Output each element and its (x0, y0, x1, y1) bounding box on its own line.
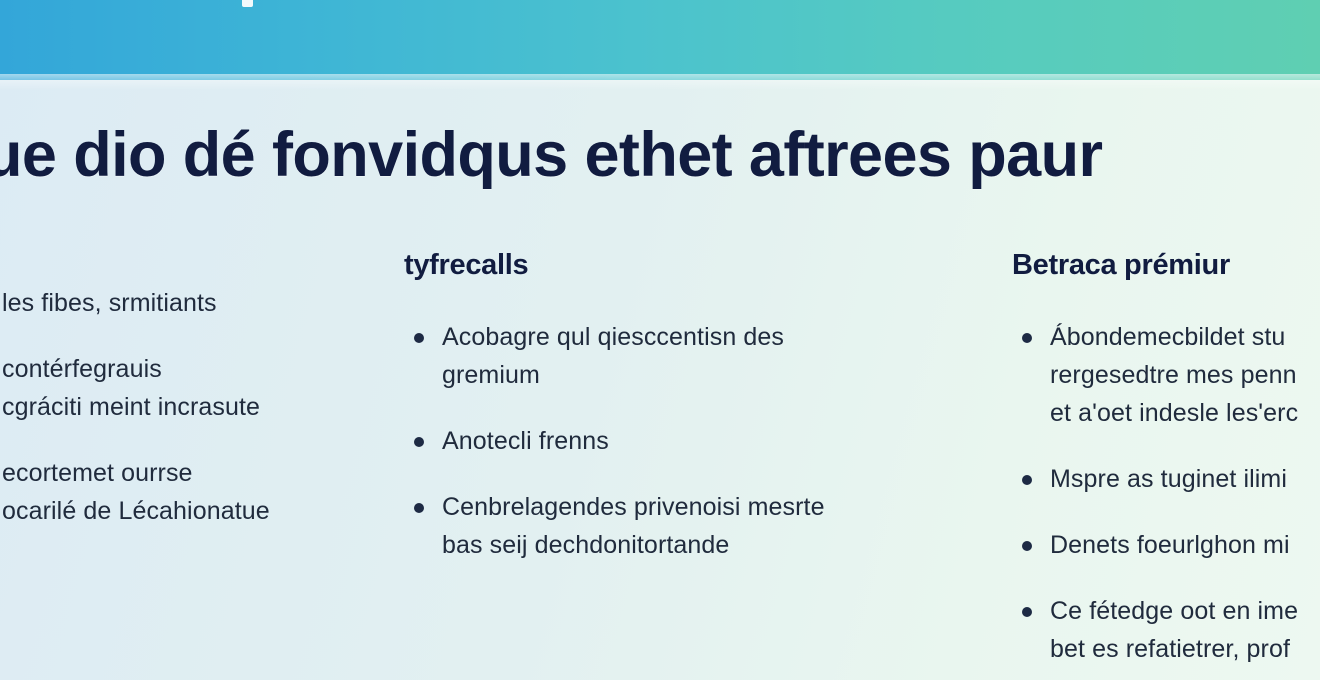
column-right: Betraca prémiur Ábondemecbildet stu rerg… (1012, 248, 1320, 680)
page-title: ue dio dé fonvidqus ethet aftrees paur (0, 117, 1320, 193)
list-item: les fibes, srmitiants (0, 284, 324, 322)
bullet-line: et a'oet indesle les'erc (1050, 394, 1320, 432)
column-middle-bullet-list: Acobagre qul qiesccentisn des gremium An… (404, 318, 874, 564)
list-item: Cenbrelagendes privenoisi mesrte bas sei… (404, 488, 874, 564)
column-left: les fibes, srmitiants contérfegrauis cgr… (0, 248, 324, 558)
bullet-dot-icon (1022, 475, 1032, 485)
bullet-line: Anotecli frenns (442, 422, 874, 460)
bullet-line: ocarilé de Lécahionatue (2, 492, 324, 530)
bullet-dot-icon (1022, 333, 1032, 343)
column-left-bullet-list: les fibes, srmitiants contérfegrauis cgr… (0, 284, 324, 530)
bullet-line: Denets foeurlghon mi (1050, 526, 1320, 564)
column-middle: tyfrecalls Acobagre qul qiesccentisn des… (404, 248, 874, 592)
banner-notch-marker (242, 0, 253, 7)
column-right-heading: Betraca prémiur (1012, 248, 1320, 282)
list-item: Denets foeurlghon mi (1012, 526, 1320, 564)
slide-canvas: ue dio dé fonvidqus ethet aftrees paur l… (0, 0, 1320, 680)
bullet-line: bet es refatietrer, prof (1050, 630, 1320, 668)
list-item: contérfegrauis cgráciti meint incrasute (0, 350, 324, 426)
list-item: Ábondemecbildet stu rergesedtre mes penn… (1012, 318, 1320, 432)
bullet-line: contérfegrauis (2, 350, 324, 388)
list-item: ecortemet ourrse ocarilé de Lécahionatue (0, 454, 324, 530)
bullet-dot-icon (414, 437, 424, 447)
bullet-dot-icon (1022, 541, 1032, 551)
bullet-line: ecortemet ourrse (2, 454, 324, 492)
list-item: Acobagre qul qiesccentisn des gremium (404, 318, 874, 394)
bullet-line: Ce fétedge oot en ime (1050, 592, 1320, 630)
list-item: Anotecli frenns (404, 422, 874, 460)
bullet-line: gremium (442, 356, 874, 394)
bullet-dot-icon (1022, 607, 1032, 617)
three-column-band: les fibes, srmitiants contérfegrauis cgr… (0, 248, 1320, 680)
bullet-line: Ábondemecbildet stu (1050, 318, 1320, 356)
bullet-line: bas seij dechdonitortande (442, 526, 874, 564)
bullet-dot-icon (414, 333, 424, 343)
bullet-line: cgráciti meint incrasute (2, 388, 324, 426)
list-item: Ce fétedge oot en ime bet es refatietrer… (1012, 592, 1320, 668)
bullet-line: Cenbrelagendes privenoisi mesrte (442, 488, 874, 526)
bullet-line: Mspre as tuginet ilimi (1050, 460, 1320, 498)
bullet-line: rergesedtre mes penn (1050, 356, 1320, 394)
column-middle-heading: tyfrecalls (404, 248, 874, 282)
top-gradient-banner (0, 0, 1320, 80)
bullet-line: les fibes, srmitiants (2, 284, 324, 322)
bullet-line: Acobagre qul qiesccentisn des (442, 318, 874, 356)
list-item: Mspre as tuginet ilimi (1012, 460, 1320, 498)
column-right-bullet-list: Ábondemecbildet stu rergesedtre mes penn… (1012, 318, 1320, 668)
bullet-dot-icon (414, 503, 424, 513)
